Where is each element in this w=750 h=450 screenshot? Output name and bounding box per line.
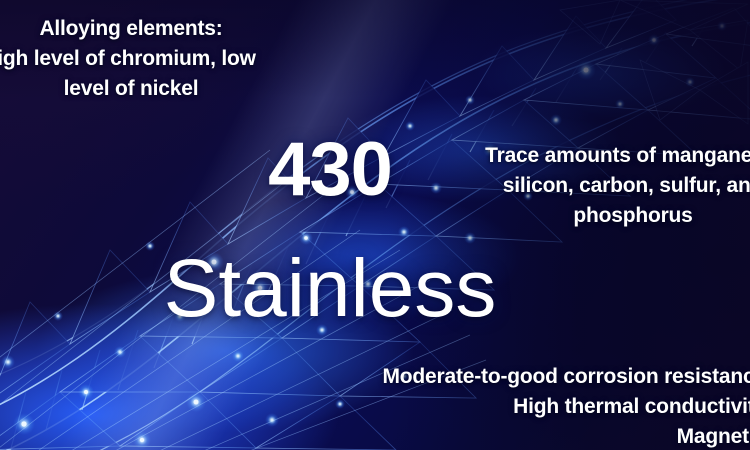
callout-alloying-line-3: level of nickel — [0, 74, 262, 104]
callout-alloying-line-2: High level of chromium, low — [0, 44, 262, 74]
callout-properties-line-1: Moderate-to-good corrosion resistance — [374, 362, 750, 392]
callout-trace-line-2: silicon, carbon, sulfur, and — [483, 171, 750, 201]
callout-alloying-line-1: Alloying elements: — [0, 14, 262, 44]
material-name: Stainless — [0, 248, 660, 330]
callout-trace-line-3: phosphorus — [483, 201, 750, 231]
callout-trace-amounts: Trace amounts of manganese, silicon, car… — [483, 141, 750, 231]
callout-trace-line-1: Trace amounts of manganese, — [483, 141, 750, 171]
infographic-banner: 430 Stainless Alloying elements: High le… — [0, 0, 750, 450]
callout-alloying-elements: Alloying elements: High level of chromiu… — [0, 14, 262, 104]
callout-properties-line-2: High thermal conductivity — [374, 392, 750, 422]
callout-properties: Moderate-to-good corrosion resistance Hi… — [374, 362, 750, 450]
callout-properties-line-3: Magnetic — [374, 422, 750, 450]
